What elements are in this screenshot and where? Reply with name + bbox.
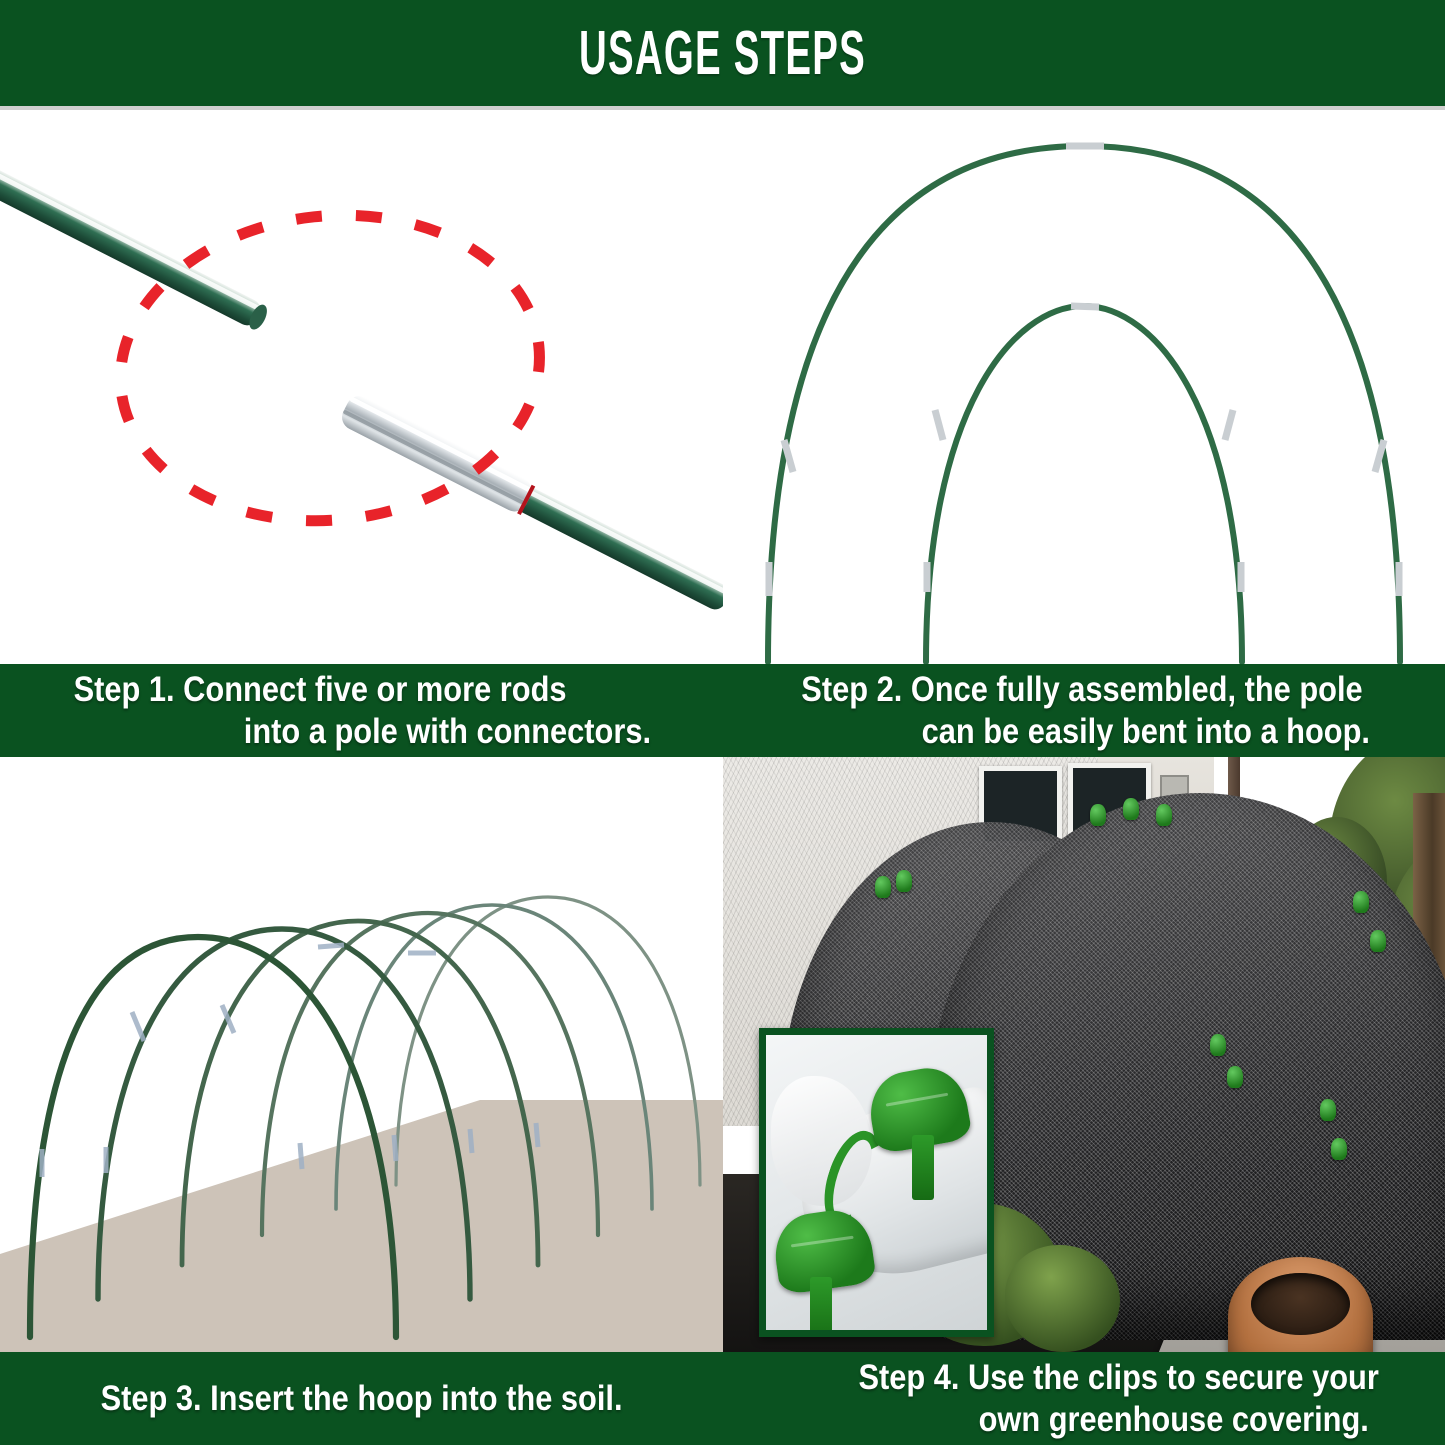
hoop-outer: [768, 146, 1400, 662]
step-4-caption-line-2: own greenhouse covering.: [978, 1399, 1368, 1440]
greenhouse-photo: [723, 757, 1445, 1352]
step-2-caption-line-2: can be easily bent into a hoop.: [922, 711, 1370, 752]
step-3-illustration: [0, 757, 723, 1352]
clip-icon: [875, 876, 891, 898]
step-2-caption-line-1: Step 2. Once fully assembled, the pole: [801, 669, 1362, 710]
step-1-caption-line-2: into a pole with connectors.: [244, 711, 651, 752]
page-header: USAGE STEPS: [0, 0, 1445, 106]
hoops-soil-svg: [0, 757, 723, 1352]
step-1-caption-line-1: Step 1. Connect five or more rods: [74, 669, 567, 710]
usage-steps-infographic: USAGE STEPS: [0, 0, 1445, 1445]
clip-icon: [1353, 891, 1369, 913]
step-2-caption: Step 2. Once fully assembled, the pole c…: [723, 664, 1445, 757]
clip-ridge: [791, 1235, 853, 1247]
pot-soil: [1251, 1273, 1349, 1335]
step-4-caption: Step 4. Use the clips to secure your own…: [723, 1352, 1445, 1445]
step-4-caption-line-1: Step 4. Use the clips to secure your: [858, 1357, 1378, 1398]
clip-upper-stem: [912, 1135, 934, 1200]
clip-icon: [1090, 804, 1106, 826]
clip-icon: [1156, 804, 1172, 826]
clip-icon: [1331, 1138, 1347, 1160]
rod-upper-left: [0, 110, 271, 332]
step-1-caption: Step 1. Connect five or more rods into a…: [0, 664, 723, 757]
clip-icon: [1320, 1099, 1336, 1121]
step-1-illustration: [0, 110, 723, 664]
clip-icon: [1123, 798, 1139, 820]
connector-bands: [769, 146, 1399, 596]
bent-hoop-svg: [723, 110, 1445, 664]
clip-icon: [1227, 1066, 1243, 1088]
foreground-plant-2: [1005, 1245, 1121, 1352]
clip-ridge: [886, 1093, 948, 1108]
step-4-photo: [723, 757, 1445, 1352]
clip-icon: [1370, 930, 1386, 952]
clip-icon: [1210, 1034, 1226, 1056]
clip-closeup-inset: [759, 1028, 994, 1337]
clip-lower-stem: [810, 1277, 832, 1337]
page-title: USAGE STEPS: [579, 18, 866, 89]
step-3-caption-line-1: Step 3. Insert the hoop into the soil.: [101, 1378, 623, 1419]
step-2-illustration: [723, 110, 1445, 664]
soil-plane: [0, 1100, 723, 1352]
step-3-caption: Step 3. Insert the hoop into the soil.: [0, 1352, 723, 1445]
rod-lower-right: [338, 392, 723, 617]
rod-connector-svg: [0, 110, 723, 664]
hoop-inner: [926, 306, 1242, 662]
clip-icon: [896, 870, 912, 892]
